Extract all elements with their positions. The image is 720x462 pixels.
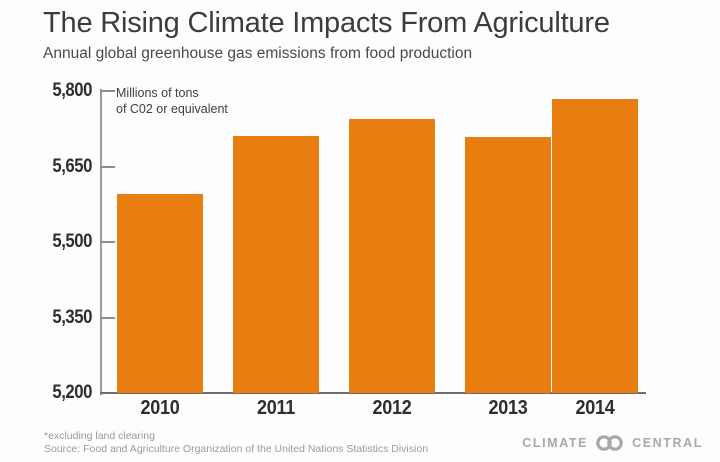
footer-notes: *excluding land clearing Source: Food an… — [44, 430, 428, 456]
x-tick-label-2014: 2014 — [556, 397, 633, 420]
logo-word-right: CENTRAL — [632, 436, 703, 450]
bar-2011[interactable] — [233, 136, 319, 393]
chart-page: The Rising Climate Impacts From Agricult… — [0, 0, 720, 462]
bar-2010[interactable] — [117, 194, 203, 393]
bar-2013[interactable] — [465, 137, 551, 393]
bar-2012[interactable] — [349, 119, 435, 393]
x-tick-label-2011: 2011 — [237, 397, 314, 420]
x-tick-label-2013: 2013 — [469, 397, 546, 420]
plot-area: 5,800 5,650 5,500 5,350 5,200 Millions o… — [0, 0, 720, 462]
bars-layer: 2010 2011 2012 2013 2014 — [0, 0, 720, 462]
logo-word-left: CLIMATE — [522, 436, 588, 450]
footnote-source: Source: Food and Agriculture Organizatio… — [44, 443, 428, 456]
x-tick-label-2010: 2010 — [121, 397, 198, 420]
x-tick-label-2012: 2012 — [353, 397, 430, 420]
footnote-exclusion: *excluding land clearing — [44, 430, 428, 443]
climate-central-logo: CLIMATE CENTRAL — [522, 435, 703, 451]
interlocking-rings-icon — [593, 435, 627, 451]
bar-2014[interactable] — [552, 99, 638, 393]
